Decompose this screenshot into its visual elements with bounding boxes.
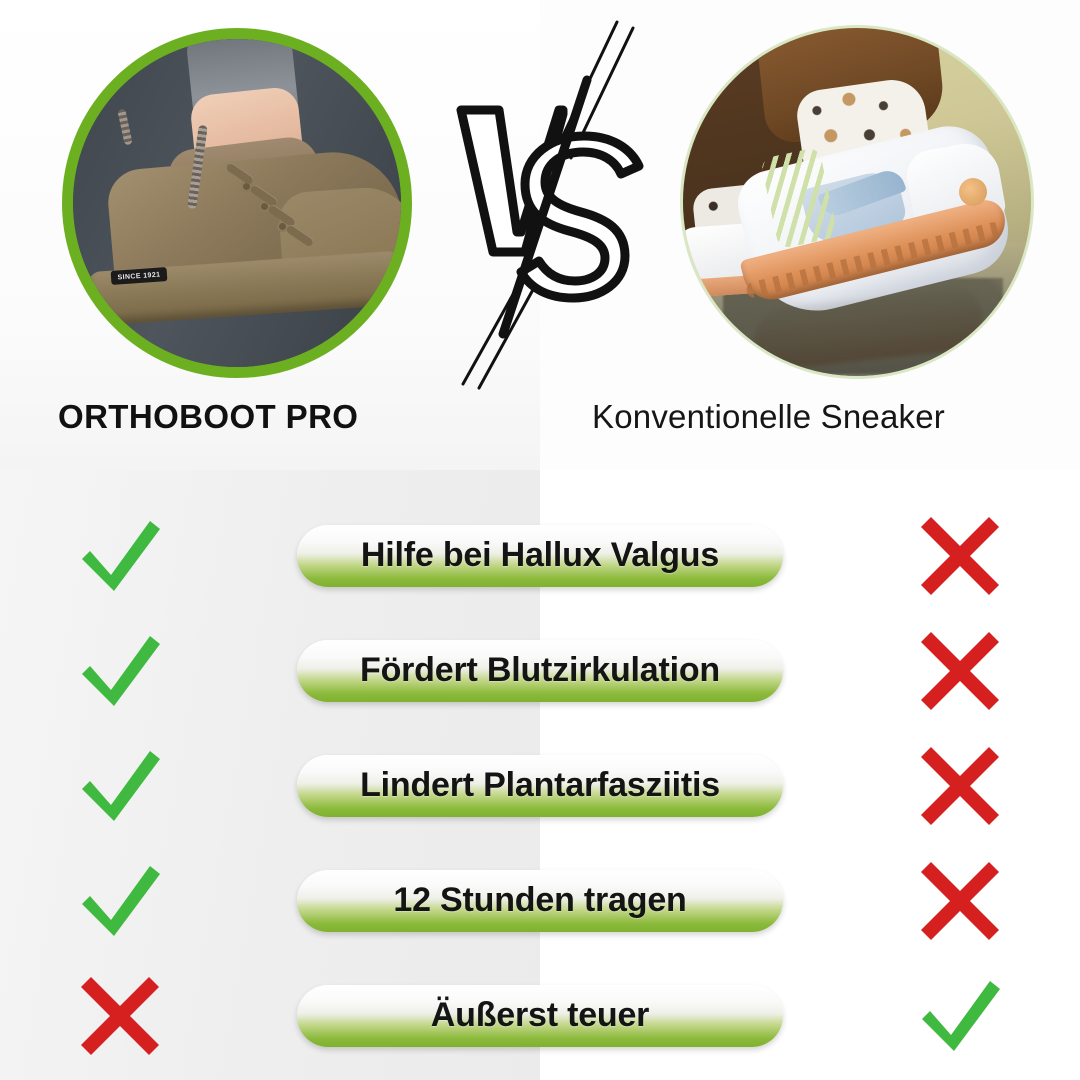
feature-pill: Lindert Plantarfasziitis	[297, 755, 783, 817]
boot-brand-tag-text: SINCE 1921	[117, 271, 160, 281]
check-icon	[74, 743, 166, 829]
sneaker-photo-scene	[683, 28, 1031, 376]
left-mark-cell	[0, 973, 240, 1059]
right-mark-cell	[840, 973, 1080, 1059]
cross-icon	[917, 628, 1003, 714]
left-mark-cell	[0, 743, 240, 829]
comparison-row: Fördert Blutzirkulation	[0, 613, 1080, 728]
check-icon	[74, 628, 166, 714]
feature-label: Fördert Blutzirkulation	[360, 651, 720, 690]
cross-icon	[77, 973, 163, 1059]
comparison-row: 12 Stunden tragen	[0, 843, 1080, 958]
feature-pill: Äußerst teuer	[297, 985, 783, 1047]
feature-pill-cell: Äußerst teuer	[240, 985, 840, 1047]
feature-pill-cell: Lindert Plantarfasziitis	[240, 755, 840, 817]
feature-label: Hilfe bei Hallux Valgus	[361, 536, 719, 575]
feature-pill: Hilfe bei Hallux Valgus	[297, 525, 783, 587]
right-mark-cell	[840, 858, 1080, 944]
check-icon	[914, 973, 1006, 1059]
left-mark-cell	[0, 858, 240, 944]
feature-pill-cell: 12 Stunden tragen	[240, 870, 840, 932]
comparison-infographic: SINCE 1921	[0, 0, 1080, 1080]
feature-pill: 12 Stunden tragen	[297, 870, 783, 932]
product-image-orthoboot: SINCE 1921	[62, 28, 412, 378]
check-icon	[74, 513, 166, 599]
product-label-orthoboot: ORTHOBOOT PRO	[58, 398, 358, 436]
cross-icon	[917, 743, 1003, 829]
hero-section: SINCE 1921	[0, 0, 1080, 470]
cross-icon	[917, 513, 1003, 599]
left-mark-cell	[0, 628, 240, 714]
right-mark-cell	[840, 513, 1080, 599]
feature-label: Lindert Plantarfasziitis	[360, 766, 720, 805]
cross-icon	[917, 858, 1003, 944]
right-mark-cell	[840, 743, 1080, 829]
feature-label: 12 Stunden tragen	[393, 881, 686, 920]
comparison-row: Äußerst teuer	[0, 958, 1080, 1073]
comparison-row: Lindert Plantarfasziitis	[0, 728, 1080, 843]
check-icon	[74, 858, 166, 944]
left-mark-cell	[0, 513, 240, 599]
vs-emblem	[455, 18, 645, 390]
product-image-conventional-sneaker	[683, 28, 1031, 376]
right-mark-cell	[840, 628, 1080, 714]
feature-pill-cell: Hilfe bei Hallux Valgus	[240, 525, 840, 587]
feature-pill-cell: Fördert Blutzirkulation	[240, 640, 840, 702]
feature-label: Äußerst teuer	[431, 996, 649, 1035]
comparison-row: Hilfe bei Hallux Valgus	[0, 498, 1080, 613]
product-label-conventional-sneaker: Konventionelle Sneaker	[592, 398, 945, 436]
comparison-rows: Hilfe bei Hallux ValgusFördert Blutzirku…	[0, 498, 1080, 1073]
boot-photo-scene: SINCE 1921	[73, 39, 401, 367]
feature-pill: Fördert Blutzirkulation	[297, 640, 783, 702]
